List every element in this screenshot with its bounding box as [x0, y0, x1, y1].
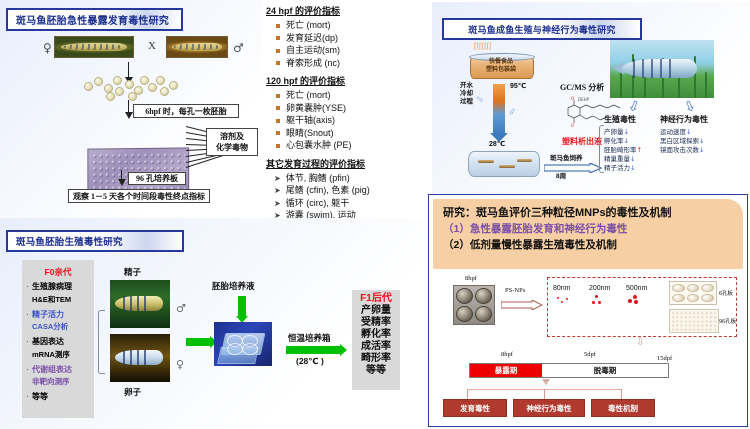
- outcome-box-mechanism: 毒性机制: [591, 399, 655, 417]
- bullet-square-icon: [276, 36, 280, 40]
- arrow-head-2: [125, 112, 133, 119]
- result-block-neurobehavioral: 神经行为毒性 运动速度↓ 黑白区域探索↓ 镜面攻击次数↓: [660, 114, 708, 155]
- plate96-label: 96孔板: [719, 317, 736, 325]
- bullet-arrow-icon: ➤: [274, 198, 281, 209]
- research-objective-box: 研究：斑马鱼评价三种粒径MNPs的毒性及机制 （1）急性暴露胚胎发育和神经行为毒…: [433, 199, 743, 269]
- timeline-mid-label: 5dpf: [584, 351, 596, 358]
- indicator-group-120hpf: 120 hpf 的评价指标 死亡 (mort) 卵黄囊肿(YSE) 躯干轴(ax…: [266, 74, 426, 151]
- f1-item: 等等: [366, 365, 386, 377]
- female-symbol-a: ♀: [43, 41, 52, 55]
- label-6hpf: 6hpf 时，每孔一枚胚胎: [133, 104, 239, 118]
- bullet-square-icon: [276, 61, 280, 65]
- indicator-item: ➤循环 (circ), 躯干: [266, 198, 426, 209]
- panel-adult-repro-neuro: 斑马鱼成鱼生殖与神经行为毒性研究 ʃʃʃʃʃʃʃ 快餐食品 塑料包装袋 95℃ …: [432, 2, 750, 198]
- feeding-arrow: [544, 160, 602, 170]
- result-row: 精巢重量↓: [604, 155, 642, 164]
- arrow-down-icon: ↓: [699, 137, 704, 145]
- poster-root: 斑马鱼胚胎急性暴露发育毒性研究 ♀ X ♂: [0, 0, 750, 429]
- result-row: 孵化率↓: [604, 137, 642, 146]
- indicator-group-24hpf: 24 hpf 的评价指标 死亡 (mort) 发育延迟(dp) 自主运动(sm)…: [266, 4, 426, 69]
- result-row: 产卵量↓: [604, 128, 642, 137]
- bullet-square-icon: [276, 131, 280, 135]
- bracket-connector: [98, 310, 105, 374]
- indicator-heading-other: 其它发育过程的评价指标: [266, 157, 426, 170]
- egg-cluster: [82, 74, 178, 100]
- svg-text:O: O: [571, 123, 574, 128]
- egg-label: 卵子: [124, 386, 141, 398]
- arrow-down-icon: ↓: [624, 137, 629, 145]
- male-zebrafish-photo-e: [110, 280, 170, 328]
- panel-embryo-repro-study: 斑马鱼胚胎生殖毒性研究 F0亲代 ·生殖腺病理 H&E和TEM ·精子活力 CA…: [0, 218, 424, 429]
- indicator-item: 卵黄囊肿(YSE): [266, 103, 426, 114]
- f0-item: ·代谢组表达: [26, 365, 90, 376]
- indicator-item: 心包囊水肿 (PE): [266, 140, 426, 151]
- arrow-down-icon: ↓: [699, 146, 704, 154]
- outcome-box-developmental: 发育毒性: [443, 399, 507, 417]
- arrow-down-icon: ↓: [630, 164, 635, 172]
- outcome-box-neurobehavioral: 神经行为毒性: [513, 399, 585, 417]
- branch-arrow-icon: [542, 379, 550, 385]
- indicator-item: 眼睛(Snout): [266, 128, 426, 139]
- indicator-item: ➤体节, 胸鳍 (pfin): [266, 173, 426, 184]
- incubator-temp-label: (28℃ ): [296, 356, 324, 367]
- panel-evaluation-indicators: 24 hpf 的评价指标 死亡 (mort) 发育延迟(dp) 自主运动(sm)…: [266, 4, 426, 216]
- male-symbol-e: ♂: [176, 302, 186, 315]
- solvent-line-1: 溶剂及: [220, 131, 244, 142]
- label-96-plate: 96 孔培养板: [128, 172, 186, 185]
- result-row: 胚胎畸形率↑: [604, 146, 642, 155]
- solvent-line-2: 化学毒物: [216, 142, 248, 153]
- male-zebrafish-photo: [166, 36, 228, 58]
- arrow-medium-down: [238, 296, 246, 316]
- result-heading-reproductive: 生殖毒性: [604, 114, 642, 125]
- branch-tick-left: [467, 389, 468, 399]
- f0-subitem: CASA分析: [26, 321, 90, 332]
- bullet-square-icon: [276, 106, 280, 110]
- result-row: 精子活力↓: [604, 164, 642, 173]
- indicator-item: 死亡 (mort): [266, 90, 426, 101]
- f1-offspring-box: F1后代 产卵量 受精率 孵化率 成活率 畸形率 等等: [352, 290, 400, 390]
- leachate-label: 塑料析出液: [562, 136, 602, 147]
- indicator-item: 躯干轴(axis): [266, 115, 426, 126]
- indicator-heading-120hpf: 120 hpf 的评价指标: [266, 74, 426, 87]
- label-observation: 观察 1－5 天各个时间段毒性终点指标: [68, 189, 210, 203]
- 96-well-plate-small-image: [669, 309, 719, 333]
- bullet-arrow-icon: ➤: [274, 185, 281, 196]
- result-row: 运动速度↓: [660, 128, 708, 137]
- female-zebrafish-photo-e: [110, 334, 170, 382]
- result-block-reproductive: 生殖毒性 产卵量↓ 孵化率↓ 胚胎畸形率↑ 精巢重量↓ 精子活力↓: [604, 114, 642, 173]
- bullet-square-icon: [276, 119, 280, 123]
- f0-item: ·精子活力: [26, 310, 90, 321]
- f0-item: ·生殖腺病理: [26, 282, 90, 293]
- size-label-500nm: 500nm: [626, 285, 647, 292]
- timeline-start-label: 8hpf: [501, 351, 513, 358]
- f1-item: 产卵量: [361, 305, 391, 317]
- f0-subitem: 非靶向测序: [26, 376, 90, 387]
- indicator-label: 脊索形成 (nc): [286, 58, 340, 69]
- hollow-arrow-icon-1: ⇨: [474, 93, 486, 106]
- f0-subitem: mRNA测序: [26, 349, 90, 360]
- svg-text:O: O: [571, 96, 574, 101]
- f0-heading: F0亲代: [26, 266, 90, 278]
- female-symbol-e: ♀: [176, 358, 184, 371]
- hollow-arrow-icon-2: ⇨: [505, 105, 518, 117]
- f1-item: 孵化率: [361, 329, 391, 341]
- timeline-end-label: 15dpf: [657, 355, 672, 362]
- indicator-label: 死亡 (mort): [286, 90, 331, 101]
- f0-item: ·基因表达: [26, 337, 90, 348]
- result-row: 黑白区域探索↓: [660, 137, 708, 146]
- indicator-item: 死亡 (mort): [266, 20, 426, 31]
- indicator-heading-24hpf: 24 hpf 的评价指标: [266, 4, 426, 17]
- cooling-arrow: [493, 84, 505, 134]
- f0-item: ·等等: [26, 392, 90, 403]
- f1-item: 成活率: [361, 341, 391, 353]
- 6-well-plate-image: [669, 281, 717, 305]
- f1-item: 受精率: [361, 317, 391, 329]
- beaker-label: 快餐食品 塑料包装袋: [476, 58, 526, 74]
- bullet-arrow-icon: ➤: [274, 173, 281, 184]
- embryo-medium-label: 胚胎培养液: [212, 280, 255, 292]
- result-heading-neurobehavioral: 神经行为毒性: [660, 114, 708, 125]
- cooling-line1: 开水: [460, 82, 473, 90]
- 4-well-tray-image: [453, 285, 495, 325]
- size-label-80nm: 80nm: [553, 285, 571, 292]
- indicator-label: 发育延迟(dp): [286, 33, 338, 44]
- cooling-process-label: 开水 冷却 过程: [460, 82, 473, 106]
- panel-e-title: 斑马鱼胚胎生殖毒性研究: [6, 230, 184, 252]
- bullet-square-icon: [276, 94, 280, 98]
- arrow-to-culture-dish: [186, 338, 210, 346]
- bullet-square-icon: [276, 24, 280, 28]
- panel-c-title: 斑马鱼成鱼生殖与神经行为毒性研究: [442, 18, 642, 40]
- steam-icon: ʃʃʃʃʃʃʃ: [474, 43, 492, 50]
- f0-parent-box: F0亲代 ·生殖腺病理 H&E和TEM ·精子活力 CASA分析 ·基因表达 m…: [22, 260, 94, 418]
- stage-label-8hpf-top: 8hpf: [465, 275, 477, 282]
- indicator-label: 尾鳍 (cfin), 色素 (pig): [286, 185, 370, 196]
- arrow-down-icon: ↓: [686, 128, 691, 136]
- bullet-square-icon: [276, 144, 280, 148]
- indicator-group-other: 其它发育过程的评价指标 ➤体节, 胸鳍 (pfin) ➤尾鳍 (cfin), 色…: [266, 157, 426, 222]
- branch-tick-mid: [544, 389, 545, 399]
- indicator-item: 发育延迟(dp): [266, 33, 426, 44]
- f0-subitem: H&E和TEM: [26, 294, 90, 305]
- indicator-label: 眼睛(Snout): [286, 128, 334, 139]
- f1-heading: F1后代: [360, 293, 392, 305]
- arrow-down-icon: ↓: [630, 155, 635, 163]
- arrow-down-icon: ↓: [624, 128, 629, 136]
- arrow-head-3: [118, 179, 126, 186]
- psnps-label: PS-NPs: [505, 287, 525, 294]
- beaker-label-line2: 塑料包装袋: [476, 66, 526, 74]
- timeline-exposure-segment: 暴露期: [470, 364, 542, 377]
- size-label-200nm: 200nm: [589, 285, 610, 292]
- beaker-label-line1: 快餐食品: [476, 58, 526, 66]
- male-symbol-a: ♂: [233, 41, 244, 55]
- label-solvent-chemicals: 溶剂及 化学毒物: [206, 128, 258, 156]
- temp-cold-label: 28℃: [489, 140, 505, 148]
- female-zebrafish-photo: [54, 36, 134, 58]
- svg-text:DEHP: DEHP: [578, 97, 590, 102]
- indicator-label: 躯干轴(axis): [286, 115, 335, 126]
- plate6-label: 6孔板: [719, 289, 733, 297]
- indicator-item: ➤尾鳍 (cfin), 色素 (pig): [266, 185, 426, 196]
- adult-zebrafish-photo: [610, 40, 714, 98]
- branch-tick-right: [621, 389, 622, 399]
- flow-arrow-down-icon: ⇩: [636, 337, 644, 348]
- temp-hot-label: 95℃: [510, 82, 526, 90]
- research-objective-1: （1）急性暴露胚胎发育和神经行为毒性: [443, 221, 743, 237]
- indicator-label: 心包囊水肿 (PE): [286, 140, 352, 151]
- panel-a-title: 斑马鱼胚胎急性暴露发育毒性研究: [6, 8, 183, 31]
- gcms-label: GC/MS 分析: [560, 82, 604, 93]
- arrow-to-f1: [286, 346, 340, 354]
- research-objective-2: （2）低剂量慢性暴露生殖毒性及机制: [443, 237, 743, 253]
- indicator-item: 自主运动(sm): [266, 45, 426, 56]
- indicator-label: 死亡 (mort): [286, 20, 331, 31]
- indicator-label: 体节, 胸鳍 (pfin): [286, 173, 350, 184]
- research-title: 研究：斑马鱼评价三种粒径MNPs的毒性及机制: [443, 205, 743, 221]
- indicator-label: 卵黄囊肿(YSE): [286, 103, 346, 114]
- result-row: 镜面攻击次数↓: [660, 146, 708, 155]
- arrow-up-icon: ↑: [637, 146, 642, 154]
- f1-item: 畸形率: [361, 353, 391, 365]
- psnps-arrow: [501, 297, 543, 307]
- bullet-square-icon: [276, 49, 280, 53]
- panel-research-objectives: 研究：斑马鱼评价三种粒径MNPs的毒性及机制 （1）急性暴露胚胎发育和神经行为毒…: [428, 194, 748, 427]
- indicator-item: 脊索形成 (nc): [266, 58, 426, 69]
- cross-symbol: X: [148, 40, 156, 52]
- cooling-line2: 冷却: [460, 90, 473, 98]
- incubator-label: 恒温培养箱: [288, 332, 331, 344]
- indicator-label: 自主运动(sm): [286, 45, 340, 56]
- culture-dish-photo: [214, 322, 272, 366]
- feeding-label-2: 8周: [556, 170, 566, 180]
- timeline-depuration-segment: 脱毒期: [542, 364, 668, 377]
- indicator-label: 循环 (circ), 躯干: [286, 198, 350, 209]
- panel-embryo-acute-exposure: 斑马鱼胚胎急性暴露发育毒性研究 ♀ X ♂: [0, 0, 262, 218]
- timeline-bar: 暴露期 脱毒期: [469, 363, 669, 378]
- fish-tank-dish: [468, 151, 540, 177]
- cooling-line3: 过程: [460, 98, 473, 106]
- sperm-label: 精子: [124, 266, 141, 278]
